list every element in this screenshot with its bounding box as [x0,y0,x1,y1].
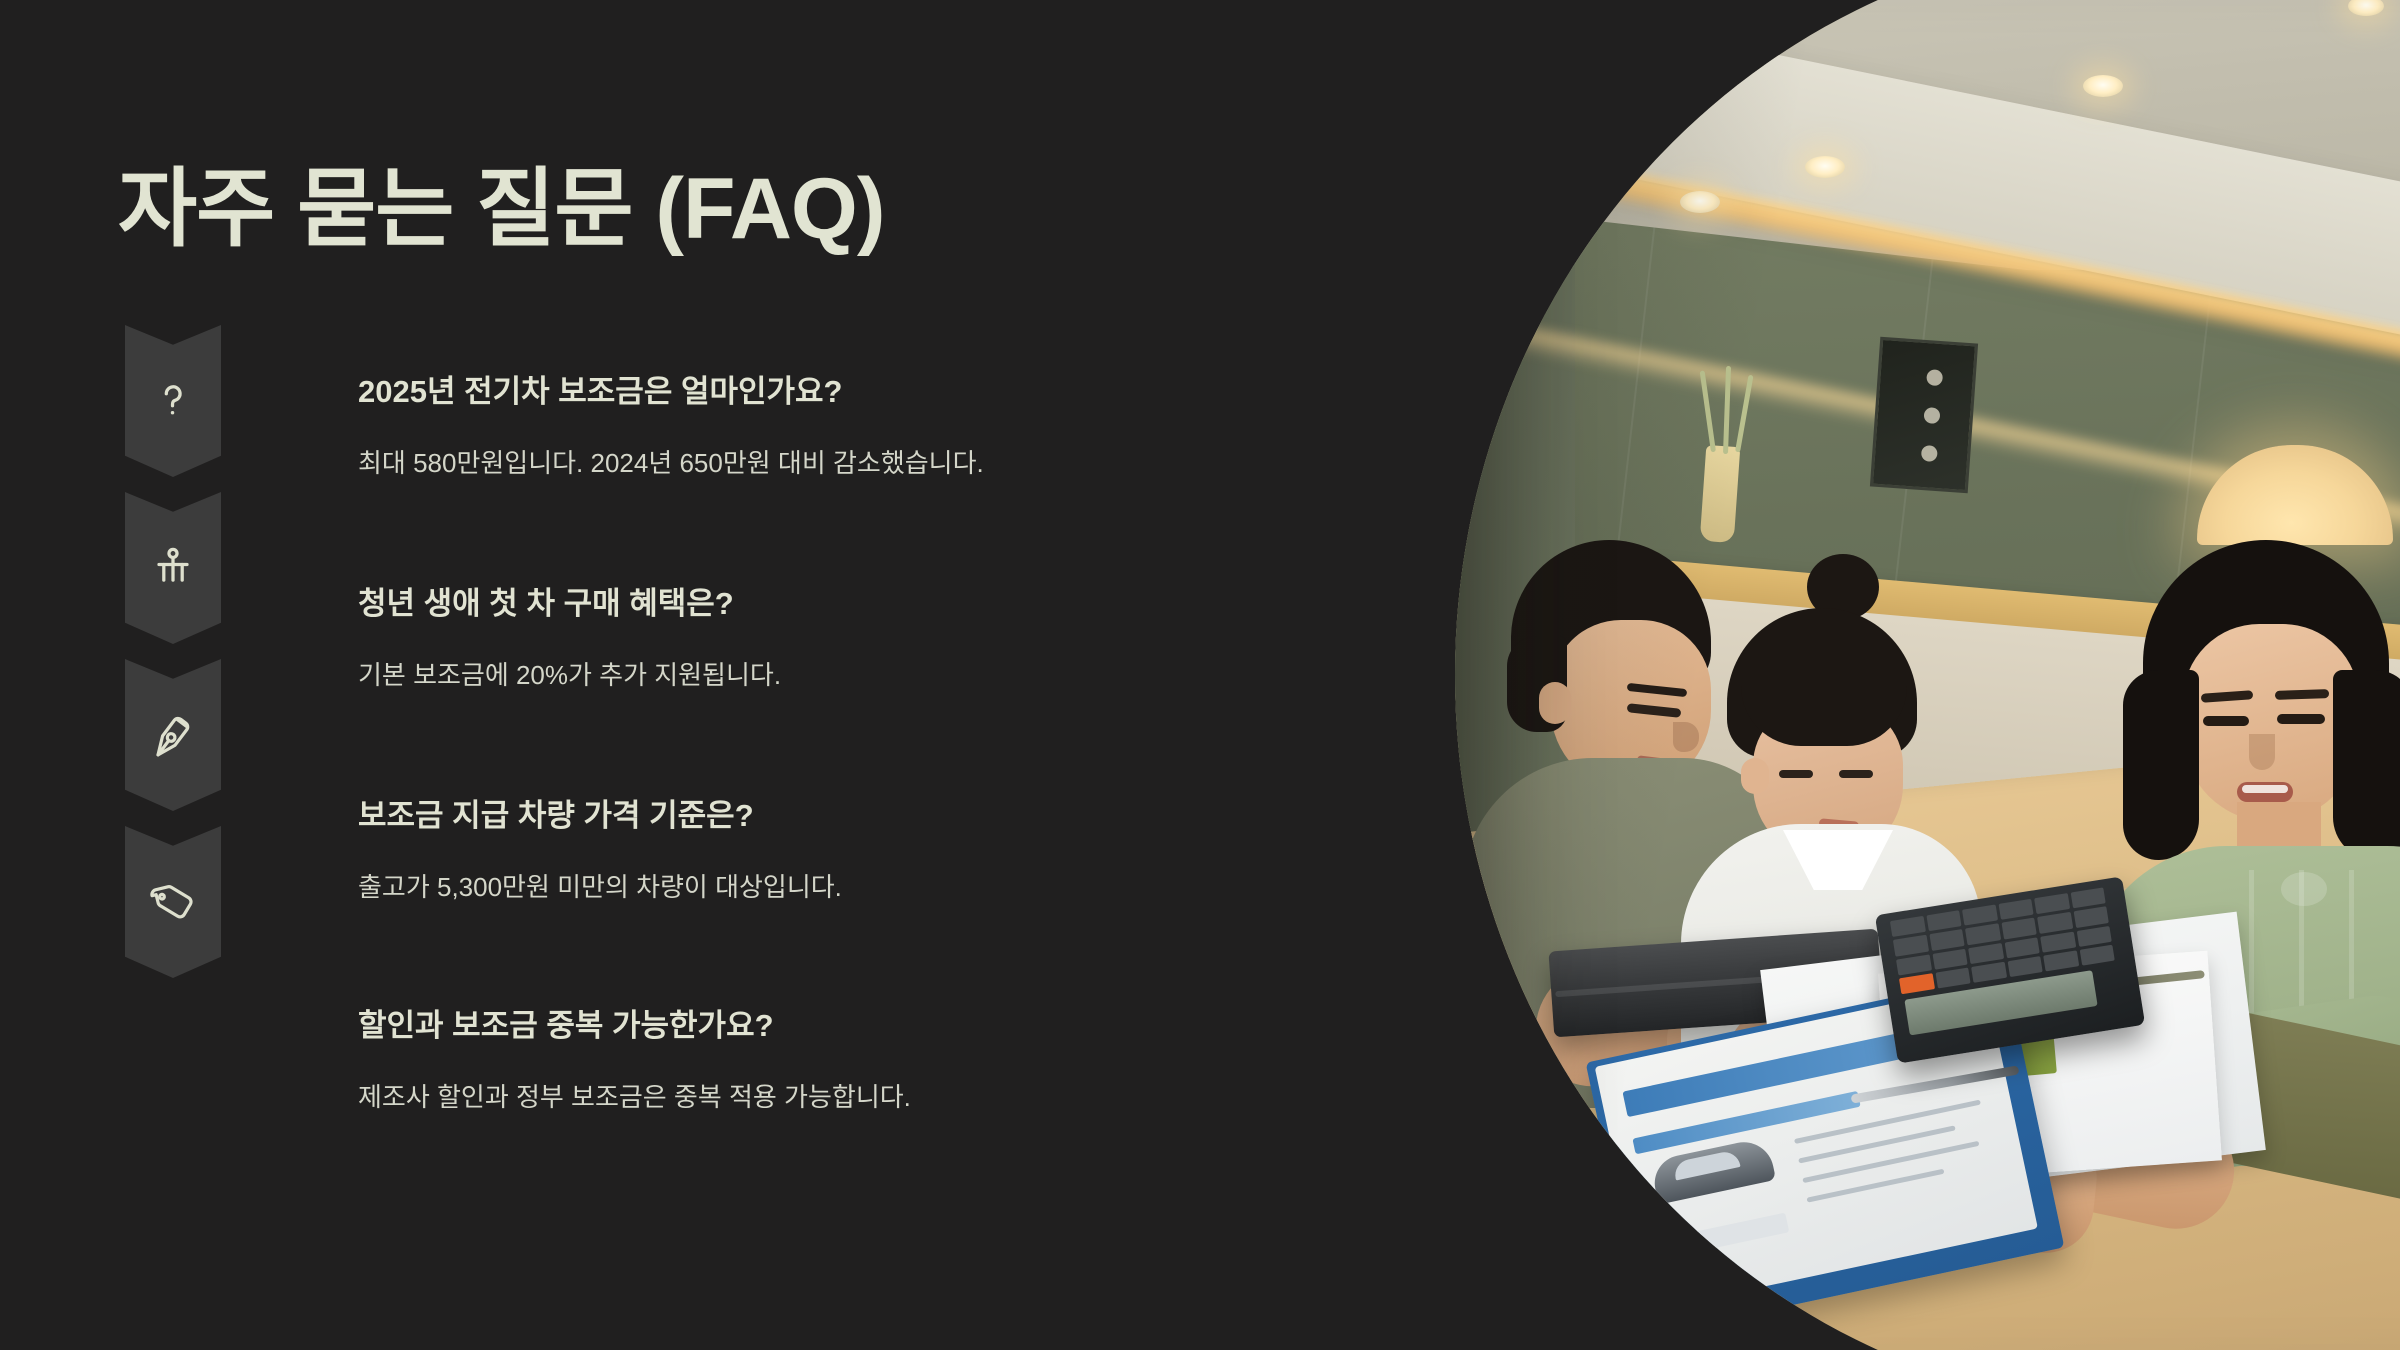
tag-icon [144,873,202,931]
page-title: 자주 묻는 질문 (FAQ) [118,138,884,263]
faq-answer: 최대 580만원입니다. 2024년 650만원 대비 감소했습니다. [358,443,984,480]
faq-question: 청년 생애 첫 차 구매 혜택은? [358,578,734,623]
person-accessibility-icon [150,545,196,591]
faq-answer: 제조사 할인과 정부 보조금은 중복 적용 가능합니다. [358,1077,911,1114]
slide-canvas: 자주 묻는 질문 (FAQ) 2025년 전기차 보조금은 얼마인가요? 최대 … [0,0,2400,1350]
faq-answer: 출고가 5,300만원 미만의 차량이 대상입니다. [358,867,842,904]
downlight-icon [1805,156,1845,178]
faq-icon-badge-4 [125,826,221,978]
faq-icon-badge-3 [125,659,221,811]
wall-frame [1870,337,1978,493]
downlight-icon [1680,191,1720,213]
faq-answer: 기본 보조금에 20%가 추가 지원됩니다. [358,655,781,692]
faq-icon-badge-1 [125,325,221,477]
hero-photo-panel [1455,0,2400,1350]
faq-question: 할인과 보조금 중복 가능한가요? [358,1000,774,1045]
faq-question: 보조금 지급 차량 가격 기준은? [358,790,754,835]
faq-icon-badge-2 [125,492,221,644]
question-mark-icon [150,378,196,424]
faq-question: 2025년 전기차 보조금은 얼마인가요? [358,366,843,411]
vase [1700,445,1741,543]
consultation-photo [1455,0,2400,1350]
downlight-icon [2083,75,2123,97]
pen-nib-icon [146,708,200,762]
